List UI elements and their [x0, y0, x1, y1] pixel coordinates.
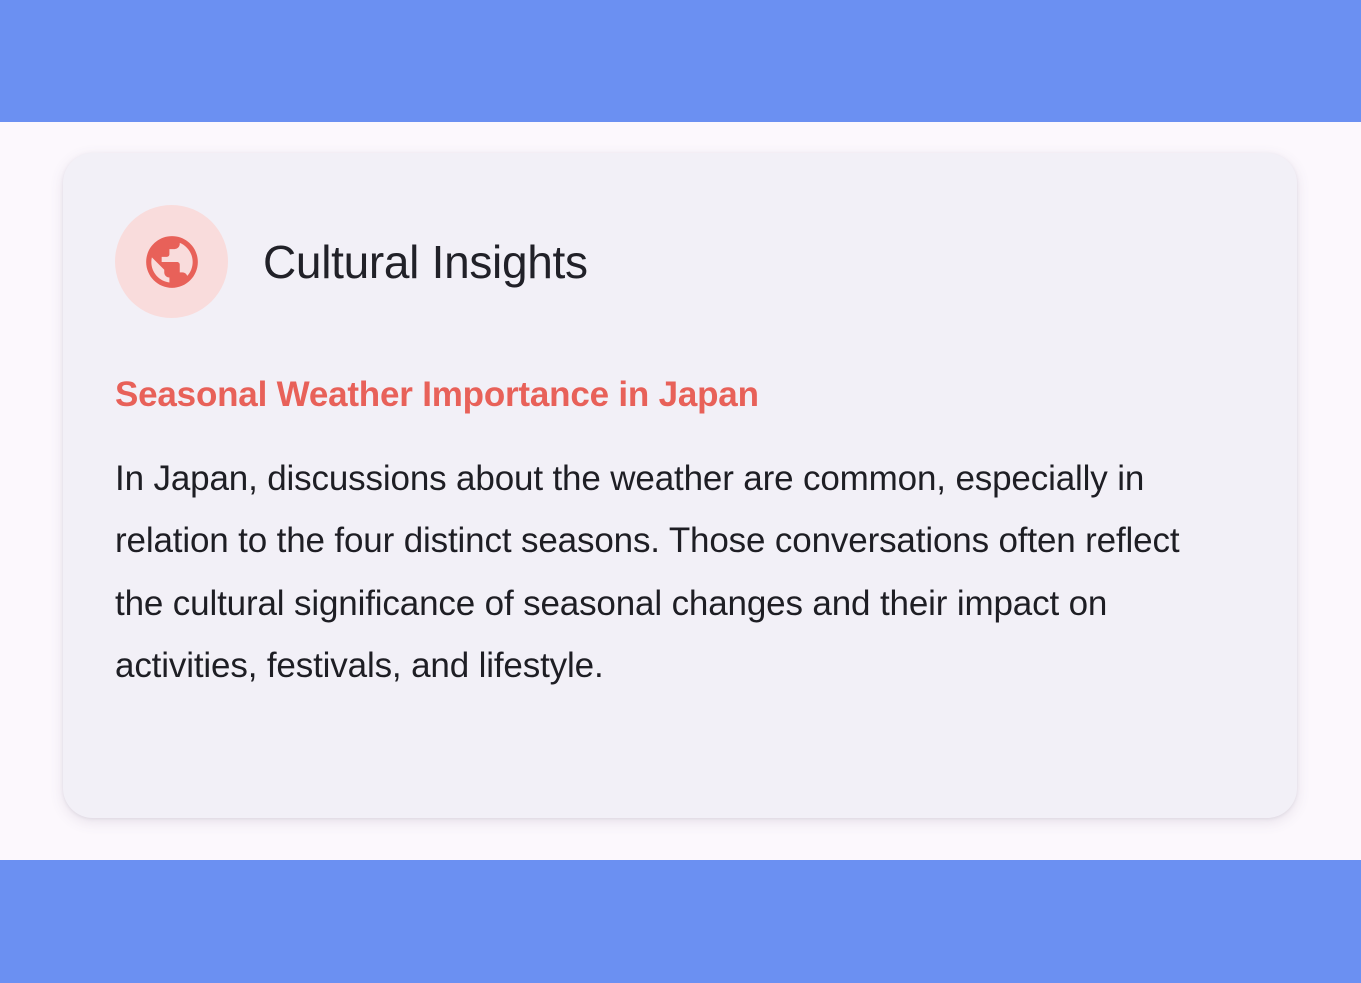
section-heading: Seasonal Weather Importance in Japan: [115, 376, 1245, 415]
top-accent-band: [0, 0, 1361, 122]
globe-icon: [141, 231, 203, 293]
page-title: Cultural Insights: [263, 239, 588, 285]
bottom-accent-band: [0, 860, 1361, 983]
insight-body-text: In Japan, discussions about the weather …: [115, 448, 1235, 699]
cultural-insights-card: Cultural Insights Seasonal Weather Impor…: [63, 153, 1297, 818]
globe-icon-badge: [115, 205, 228, 318]
card-header: Cultural Insights: [115, 205, 1245, 318]
